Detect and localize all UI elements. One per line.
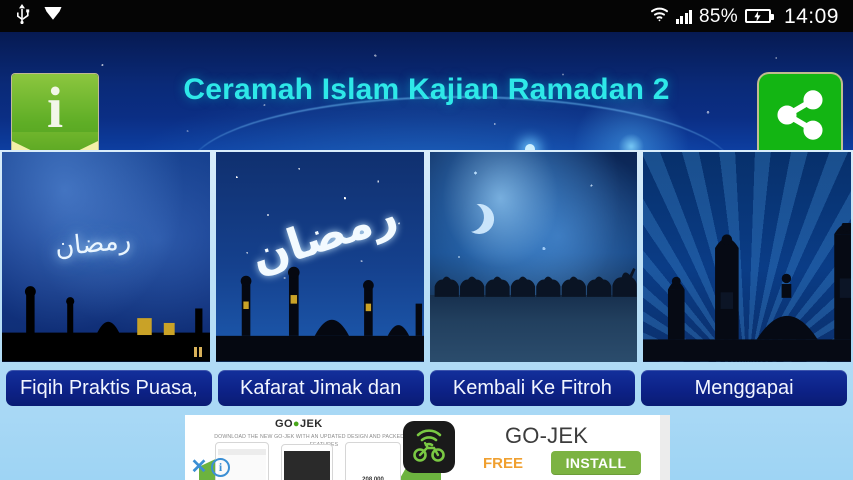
gojek-motorbike-icon	[409, 425, 449, 470]
wifi-icon	[650, 6, 669, 27]
ad-app-icon	[403, 421, 455, 473]
ad-logo-dot: ●	[293, 418, 300, 430]
ad-cta-area: GO-JEK FREE INSTALL	[473, 415, 660, 480]
share-icon	[774, 89, 826, 146]
usb-icon	[14, 4, 30, 29]
status-bar-right-icons: 85% 14:09	[650, 6, 840, 27]
mosque-skyline-silhouette	[2, 265, 210, 362]
desert-ground	[430, 295, 638, 362]
crescent-moon-icon	[451, 198, 489, 236]
close-ad-icon[interactable]: ✕	[188, 456, 210, 478]
grid-item-0[interactable]: رمضان	[2, 152, 210, 362]
status-bar-left-icons	[14, 4, 62, 29]
signal-bars-icon	[676, 9, 693, 24]
app-screen: 85% 14:09 i Ceramah Islam Kajian Ramadan…	[0, 0, 853, 480]
ad-price-label: FREE	[483, 455, 523, 472]
lecture-title-3[interactable]: Menggapai	[641, 370, 847, 406]
grid-item-1[interactable]: رمضان	[216, 152, 424, 362]
ad-phone-mockup-2	[281, 444, 333, 480]
lecture-title-0[interactable]: Fiqih Praktis Puasa,	[6, 370, 212, 406]
thumbnail-ramadan-crescent-calligraphy-starry-mosque: رمضان	[216, 152, 424, 362]
thumbnail-mosque-silhouette-rays	[643, 152, 851, 362]
info-letter: i	[12, 80, 98, 136]
ad-info-icon[interactable]: i	[211, 458, 230, 477]
thumbnail-camel-caravan-crescent-galaxy	[430, 152, 638, 362]
clock-label: 14:09	[784, 6, 839, 27]
lecture-title-2[interactable]: Kembali Ke Fitroh	[430, 370, 636, 406]
status-bar: 85% 14:09	[0, 0, 853, 32]
arabic-calligraphy: رمضان	[54, 225, 133, 263]
ad-install-button[interactable]: INSTALL	[551, 451, 641, 475]
app-header: i Ceramah Islam Kajian Ramadan 2	[0, 32, 853, 150]
share-button[interactable]	[759, 74, 841, 150]
thumbnail-ramadan-calligraphy-night-mosque: رمضان	[2, 152, 210, 362]
header-star-glow-decoration	[525, 144, 535, 150]
pause-indicator-icon	[192, 346, 204, 358]
ad-phone-mockup-3: 208.000	[345, 442, 401, 480]
grid-item-2[interactable]	[430, 152, 638, 362]
grid-item-3[interactable]	[643, 152, 851, 362]
camel-caravan-silhouette	[430, 253, 638, 299]
ad-phone-screen-2	[284, 451, 330, 480]
mosque-silhouette	[643, 223, 851, 362]
lecture-title-row: Fiqih Praktis Puasa, Kafarat Jimak dan K…	[0, 370, 853, 410]
ad-right-edge-decoration	[660, 415, 670, 480]
download-arrow-icon	[44, 6, 62, 27]
lecture-title-1[interactable]: Kafarat Jimak dan	[218, 370, 424, 406]
page-title: Ceramah Islam Kajian Ramadan 2	[120, 64, 733, 116]
ad-creative-logo: GO●JEK	[275, 418, 323, 430]
info-download-button[interactable]: i	[12, 74, 98, 150]
ad-app-name: GO-JEK	[505, 423, 588, 449]
mosque-skyline-silhouette	[216, 265, 424, 362]
battery-charging-icon	[745, 9, 771, 23]
battery-percent-label: 85%	[699, 7, 738, 26]
lecture-thumbnail-grid: رمضان رمضان	[0, 152, 853, 362]
ad-phone-screen-3	[348, 449, 398, 480]
ad-banner[interactable]: GO●JEK DOWNLOAD THE NEW GO-JEK WITH AN U…	[185, 415, 660, 480]
